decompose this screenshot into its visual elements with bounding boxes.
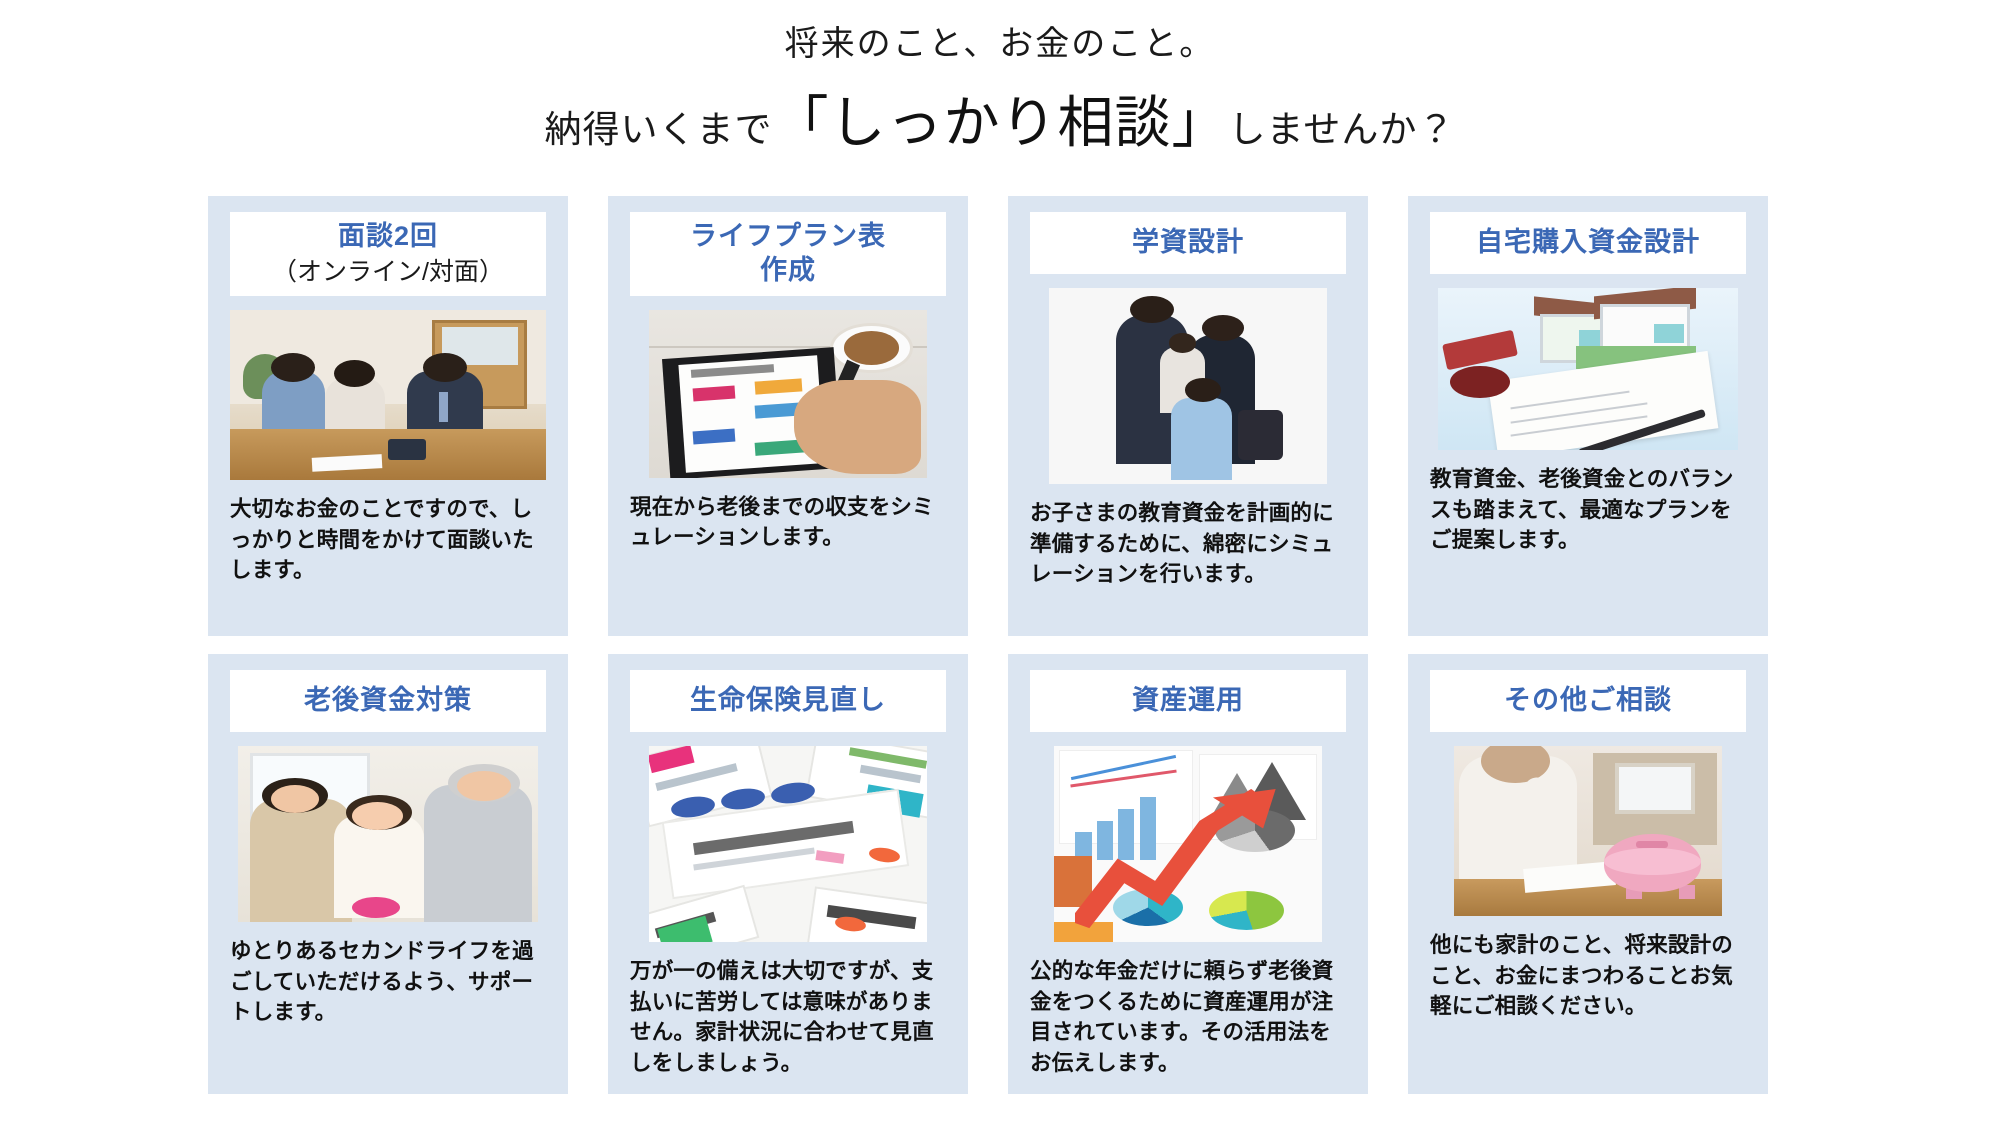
heading-prefix: 納得いくまで (545, 109, 773, 150)
heading-line-2: 納得いくまで「しっかり相談」しませんか？ (0, 92, 2000, 154)
card-title-box: 生命保険見直し (630, 670, 946, 732)
card-title: 生命保険見直し (690, 684, 886, 718)
card-title-box: その他ご相談 (1430, 670, 1746, 732)
card-title-box: 老後資金対策 (230, 670, 546, 732)
card-description: 教育資金、老後資金とのバランスも踏まえて、最適なプランをご提案します。 (1430, 464, 1746, 556)
card-title: 学資設計 (1132, 226, 1244, 260)
financial-planning-notebook-photo (649, 310, 927, 478)
page-heading: 将来のこと、お金のこと。 納得いくまで「しっかり相談」しませんか？ (0, 0, 2000, 154)
card-description: 現在から老後までの収支をシミュレーションします。 (630, 492, 946, 553)
card-title: 資産運用 (1132, 684, 1244, 718)
card-title: 面談2回 (338, 220, 438, 254)
family-of-four-photo (1049, 288, 1327, 484)
card-title-box: 自宅購入資金設計 (1430, 212, 1746, 274)
service-card-retirement-fund-measures[interactable]: 老後資金対策 ゆとりあるセカンドライフを過ごしていただけるよう、サポートします。 (208, 654, 568, 1094)
card-description: 公的な年金だけに頼らず老後資金をつくるために資産運用が注目されています。その活用… (1030, 956, 1346, 1078)
service-card-asset-management[interactable]: 資産運用 公的な年金だけに頼らず老後資金をつくるために資産運 (1008, 654, 1368, 1094)
service-card-life-insurance-review[interactable]: 生命保険見直し 万が一の備えは大切ですが、支払いに苦労しては意味がありません。家… (608, 654, 968, 1094)
card-description: 他にも家計のこと、将来設計のこと、お金にまつわることお気軽にご相談ください。 (1430, 930, 1746, 1022)
card-title-box: 学資設計 (1030, 212, 1346, 274)
house-model-and-contract-photo (1438, 288, 1738, 450)
woman-with-piggy-bank-photo (1454, 746, 1722, 916)
card-description: 大切なお金のことですので、しっかりと時間をかけて面談いたします。 (230, 494, 546, 586)
heading-emphasis: 「しっかり相談」 (773, 91, 1229, 154)
card-title: 自宅購入資金設計 (1476, 226, 1700, 260)
service-card-interview-twice[interactable]: 面談2回 （オンライン/対面） 大切なお金のことですので、しっかりと時間をかけて… (208, 196, 568, 636)
card-title-box: 面談2回 （オンライン/対面） (230, 212, 546, 296)
service-card-grid: 面談2回 （オンライン/対面） 大切なお金のことですので、しっかりと時間をかけて… (208, 196, 1808, 1094)
service-card-education-fund-design[interactable]: 学資設計 お子さまの教育資金を計画的に準備するために、綿密にシミュレーションを行… (1008, 196, 1368, 636)
charts-with-rising-arrow-photo (1054, 746, 1322, 942)
card-title: 老後資金対策 (304, 684, 472, 718)
card-description: ゆとりあるセカンドライフを過ごしていただけるよう、サポートします。 (230, 936, 546, 1028)
card-subtitle: （オンライン/対面） (272, 256, 504, 289)
insurance-brochures-photo (649, 746, 927, 942)
heading-line-1: 将来のこと、お金のこと。 (0, 22, 2000, 66)
service-card-other-consultation[interactable]: その他ご相談 他にも家計のこと、将来設計のこと、お金にまつわることお気軽にご相談… (1408, 654, 1768, 1094)
card-title-box: 資産運用 (1030, 670, 1346, 732)
heading-suffix: しませんか？ (1229, 109, 1456, 150)
rising-arrow-icon (1075, 789, 1284, 930)
card-title: ライフプラン表 作成 (690, 220, 886, 288)
card-description: お子さまの教育資金を計画的に準備するために、綿密にシミュレーションを行います。 (1030, 498, 1346, 590)
service-card-life-plan-table[interactable]: ライフプラン表 作成 現在から老後までの収支をシミュレーションします。 (608, 196, 968, 636)
service-card-home-purchase-fund-design[interactable]: 自宅購入資金設計 教育資金、老後資金とのバランスも踏まえて、最適なプランをご提案… (1408, 196, 1768, 636)
card-title: その他ご相談 (1504, 684, 1672, 718)
card-title-box: ライフプラン表 作成 (630, 212, 946, 296)
page-root: 将来のこと、お金のこと。 納得いくまで「しっかり相談」しませんか？ 面談2回 （… (0, 0, 2000, 1125)
family-meeting-with-advisor-photo (230, 310, 546, 480)
card-description: 万が一の備えは大切ですが、支払いに苦労しては意味がありません。家計状況に合わせて… (630, 956, 946, 1078)
grandparents-with-baby-photo (238, 746, 538, 922)
